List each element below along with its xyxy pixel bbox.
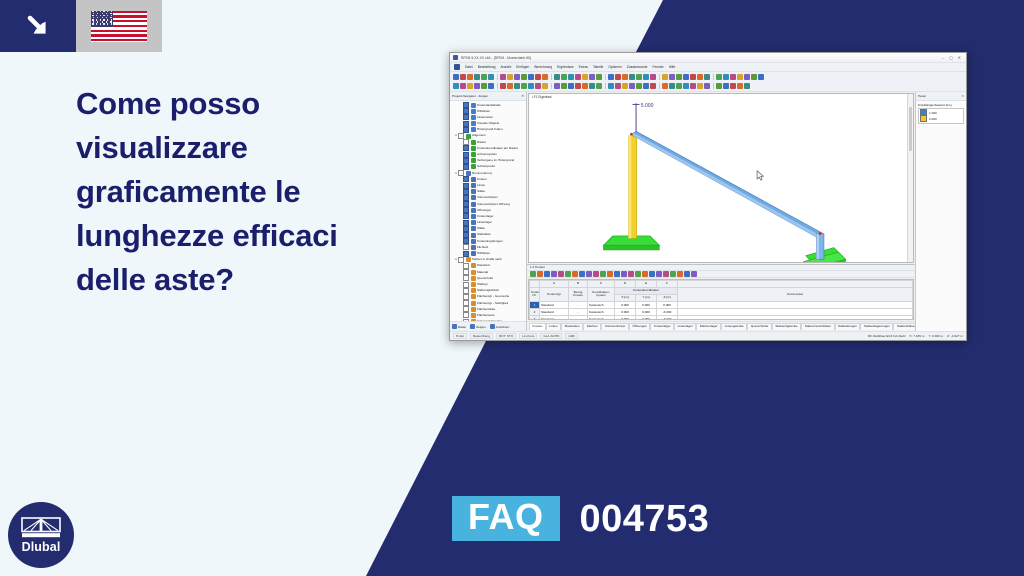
table-tab[interactable]: Stabendgelenke [772,323,801,329]
hinge-icon[interactable] [683,83,689,89]
mirror-icon[interactable] [521,83,527,89]
tree-checkbox[interactable] [463,244,469,250]
table-new-icon[interactable] [530,271,536,277]
section-icon[interactable] [643,83,649,89]
minimize-button[interactable]: – [942,56,944,60]
check-icon[interactable] [723,74,729,80]
load-icon[interactable] [697,74,703,80]
legend-box: 1.000 2.000 [918,108,964,124]
tree-checkbox[interactable] [463,176,469,182]
menu-item[interactable]: Ansicht [500,65,511,69]
mass-icon[interactable] [636,83,642,89]
print-icon[interactable] [474,74,480,80]
toolbar-separator [605,74,606,80]
table-tab[interactable]: Flächenlager [696,323,721,329]
cell-node-number[interactable]: 3 [530,315,540,320]
tree-checkbox[interactable] [463,269,469,275]
table-tabs[interactable]: KnotenLinienMaterialienFlächenVolumenkör… [527,321,915,331]
navigator-item-label: Volumenkörper [477,196,498,199]
application-body: Projekt-Navigator - Zeigen ✕ Knotenlastt… [450,92,966,331]
area-icon[interactable] [622,83,628,89]
table-tab[interactable]: Knoten [529,323,546,329]
center-column: LF1 Eigenlast 5.000 [527,92,915,331]
menu-item[interactable]: Zusatzmodule [627,65,648,69]
tree-checkbox[interactable] [463,189,469,195]
table-open-icon[interactable] [537,271,543,277]
cell-x[interactable]: 0.000 [615,308,636,315]
deform-icon[interactable] [723,83,729,89]
tree-checkbox[interactable] [463,288,469,294]
eccentricity-icon[interactable] [690,83,696,89]
table-save-icon[interactable] [544,271,550,277]
results-icon[interactable] [622,74,628,80]
tree-checkbox[interactable] [463,238,469,244]
table-icon[interactable] [629,74,635,80]
svg-text:5.000: 5.000 [641,103,654,109]
first-row-icon[interactable] [579,271,585,277]
menu-item[interactable]: Optionen [608,65,621,69]
zoom-window-icon[interactable] [554,74,560,80]
table-tab[interactable]: Linien [546,323,561,329]
maximize-button[interactable]: ◻ [949,56,952,60]
menu-item[interactable]: Ergebnisse [557,65,574,69]
report-icon[interactable] [744,83,750,89]
table-row[interactable]: 2Standard-Kartesisch0.0000.000-6.000 [530,308,913,315]
settings-icon[interactable] [643,74,649,80]
node-marker [819,232,821,234]
ortho-icon[interactable] [467,83,473,89]
layer-icon[interactable] [737,74,743,80]
project-navigator[interactable]: Projekt-Navigator - Zeigen ✕ Knotenlastt… [450,92,527,331]
node-icon[interactable] [650,74,656,80]
table-row[interactable]: 3Standard-Kartesisch7.0000.000-3.000 [530,315,913,320]
menu-item[interactable]: Bearbeitung [478,65,496,69]
info-icon[interactable] [684,271,690,277]
column-header: Y [m] [636,294,657,301]
volume-icon[interactable] [629,83,635,89]
tree-checkbox[interactable] [458,170,464,176]
panel-title: Panel [918,94,926,98]
material-icon[interactable] [650,83,656,89]
table-tab[interactable]: Knotenlager [650,323,674,329]
support-icon[interactable] [690,74,696,80]
replace-icon[interactable] [614,271,620,277]
navigator-item-label: Flächentyp - Geometrie [477,295,509,298]
tree-checkbox[interactable] [463,102,469,108]
column-letter: B [569,280,588,287]
navigator-tab-label: Ansichten [496,325,510,329]
release-icon[interactable] [676,83,682,89]
tree-checkbox[interactable] [463,164,469,170]
table-paste-icon[interactable] [572,271,578,277]
toolbar-row[interactable] [453,82,963,90]
tree-checkbox[interactable] [463,275,469,281]
taper-icon[interactable] [697,83,703,89]
cell-y[interactable]: 0.000 [636,308,657,315]
navigator-header: Projekt-Navigator - Zeigen ✕ [450,92,526,101]
cell-y[interactable]: 0.000 [636,315,657,320]
navigator-item-label: Allgemein [472,134,486,137]
cell-coordinate-system[interactable]: Kartesisch [588,301,615,308]
help-icon[interactable] [677,271,683,277]
table-tab[interactable]: Stabnichtlinearitäten [893,323,915,329]
navigator-item-label: Knotenkoordinaten am Raster [477,147,518,150]
tree-checkbox[interactable] [463,152,469,158]
navigator-item-label: Volumenkörper-Öffnung [477,203,510,206]
explode-icon[interactable] [596,83,602,89]
column-letter: E [636,280,657,287]
menu-bar[interactable]: Datei Bearbeitung Ansicht Einfügen Berec… [450,63,966,72]
plane-icon[interactable] [507,83,513,89]
print-preview-icon[interactable] [481,74,487,80]
cell-reference-node[interactable]: - [569,315,588,320]
cell-reference-node[interactable]: - [569,301,588,308]
navigator-tab-label: Daten [458,325,466,329]
table-tab[interactable]: Materialien [561,323,583,329]
toolbar-separator [713,83,714,89]
sloped-beam-member[interactable] [631,131,823,238]
delete-row-icon[interactable] [642,271,648,277]
status-coordinates: RF-Stahlbau EC3 CA-Stahl X: 7.186 m Y: 0… [868,334,963,338]
toolbar[interactable] [450,72,966,92]
dimension-annotation: 5.000 [633,103,654,136]
left-column-member[interactable] [628,136,636,238]
tree-item-icon [471,313,476,318]
close-icon[interactable] [691,271,697,277]
navigator-item-label: Linienlager [477,221,492,224]
cell-node-number[interactable]: 2 [530,308,540,315]
legend-swatch [920,115,927,122]
navigator-footer-tabs[interactable]: Daten Zeigen Ansichten [450,321,526,331]
tree-checkbox[interactable] [463,263,469,269]
combo-icon[interactable] [704,74,710,80]
column-header: Kommentar [678,287,913,301]
toolbar-row[interactable] [453,73,963,81]
tree-item-icon [471,152,476,157]
save-icon[interactable] [467,74,473,80]
status-segment: Lin-Kreis [519,333,537,339]
cell-y[interactable]: 0.000 [636,301,657,308]
tree-checkbox[interactable] [463,114,469,120]
tree-checkbox[interactable] [463,108,469,114]
panel-close-icon[interactable]: ✕ [961,94,964,98]
column-letter: F [657,280,678,287]
show-icon [470,324,475,329]
tree-checkbox[interactable] [463,121,469,127]
nonlinearity-icon[interactable] [704,83,710,89]
table-tab[interactable]: Öffnungen [629,323,650,329]
status-segment: Punkt [453,333,467,339]
menu-item[interactable]: Hilfe [669,65,676,69]
cell-z[interactable]: -6.000 [657,308,678,315]
wireframe-icon[interactable] [582,74,588,80]
column-letter: C [588,280,615,287]
divide-icon[interactable] [568,83,574,89]
tree-item-icon [471,121,476,126]
cell-comment[interactable] [678,308,913,315]
tree-item-icon [471,288,476,293]
navigator-tab-ansichten[interactable]: Ansichten [490,324,510,329]
export-icon[interactable] [656,271,662,277]
table-tab[interactable]: Stabexzentrizitäten [801,323,834,329]
navigator-item-label: Material [477,271,488,274]
tree-checkbox[interactable] [463,312,469,318]
ucs-icon[interactable] [500,83,506,89]
toolbar-separator [659,83,660,89]
cell-comment[interactable] [678,301,913,308]
column-header: X [m] [615,294,636,301]
tree-checkbox[interactable] [463,139,469,145]
stiffness-icon[interactable] [669,83,675,89]
insert-row-icon[interactable] [635,271,641,277]
tree-checkbox[interactable] [463,207,469,213]
close-button[interactable]: ✕ [958,56,961,60]
navigator-tab-daten[interactable]: Daten [452,324,466,329]
paste-icon[interactable] [514,74,520,80]
surface-icon[interactable] [676,74,682,80]
angle-icon[interactable] [615,83,621,89]
column-header: Koordinaten- system [588,287,615,301]
menu-item[interactable]: Extras [579,65,588,69]
table-toolbar[interactable] [527,271,915,278]
table-tab[interactable]: Linienlager [674,323,696,329]
solid-icon[interactable] [589,74,595,80]
pdf-icon[interactable] [488,74,494,80]
cell-coordinate-system[interactable]: Kartesisch [588,308,615,315]
tree-checkbox[interactable] [463,213,469,219]
cell-node-number[interactable]: 1 [530,301,540,308]
truss-frame-icon [21,517,61,539]
table-area: 1.1 Knoten A B C D [527,264,915,331]
coord-icon[interactable] [488,83,494,89]
line-icon[interactable] [662,74,668,80]
navigator-item-label: Stabtyp [477,283,488,286]
render-icon[interactable] [575,74,581,80]
column-letter: D [615,280,636,287]
zoom-out-icon[interactable] [542,74,548,80]
tree-checkbox[interactable] [458,257,464,263]
window-titlebar[interactable]: RFEM 5.XX.XX x64 - [RFEM - Musterdatei.r… [450,53,966,63]
print2-icon[interactable] [636,74,642,80]
table-row[interactable]: 1Standard-Kartesisch0.0000.0000.000 [530,301,913,308]
viewport-scrollbar[interactable] [907,94,913,262]
cut-icon[interactable] [500,74,506,80]
table-tab[interactable]: Liniengelenke [721,323,747,329]
calc-icon[interactable] [615,74,621,80]
solid2-icon[interactable] [683,74,689,80]
find-icon[interactable] [607,271,613,277]
snap-icon[interactable] [453,83,459,89]
tree-item-icon [471,226,476,231]
tree-checkbox[interactable] [463,300,469,306]
tree-checkbox[interactable] [463,183,469,189]
info-icon[interactable] [596,74,602,80]
open-icon[interactable] [460,74,466,80]
cell-z[interactable]: 0.000 [657,301,678,308]
check-icon[interactable] [670,271,676,277]
move-icon[interactable] [535,83,541,89]
array-icon[interactable] [554,83,560,89]
dim-icon[interactable] [481,83,487,89]
structural-model-graphic[interactable]: 5.000 [529,94,913,263]
tree-item-icon [471,177,476,182]
thickness-icon[interactable] [662,83,668,89]
navigator-item-label: Standard [477,264,490,267]
calc-icon[interactable] [663,271,669,277]
cell-node-type[interactable]: Standard [540,315,569,320]
tree-item-icon [471,189,476,194]
status-segment: GLA-SCHN [540,333,562,339]
tree-checkbox[interactable] [463,201,469,207]
column-letter: A [540,280,569,287]
navigator-item-label: Verborgene im Hintergrund [477,159,514,162]
osnap-icon[interactable] [474,83,480,89]
model-viewport[interactable]: LF1 Eigenlast 5.000 [528,93,914,263]
tree-item-icon [471,245,476,250]
tree-item-icon [471,251,476,256]
results-panel[interactable]: Panel ✕ Knicklängenbeiwert kcr,y 1.000 2… [915,92,966,331]
tree-item-icon [471,103,476,108]
prev-row-icon[interactable] [586,271,592,277]
measure-icon[interactable] [608,83,614,89]
scale-icon[interactable] [542,83,548,89]
undo-icon[interactable] [521,74,527,80]
extrude-icon[interactable] [561,83,567,89]
axis-icon[interactable] [514,83,520,89]
cell-node-type[interactable]: Standard [540,308,569,315]
toolbar-separator [551,83,552,89]
zoom-all-icon[interactable] [561,74,567,80]
cell-x[interactable]: 0.000 [615,301,636,308]
tree-checkbox[interactable] [458,133,464,139]
color-icon[interactable] [730,74,736,80]
deselect-icon[interactable] [758,74,764,80]
tree-checkbox[interactable] [463,195,469,201]
tree-checkbox[interactable] [463,306,469,312]
filter-icon[interactable] [744,74,750,80]
panel-close-icon[interactable]: ✕ [521,94,524,98]
tree-checkbox[interactable] [463,127,469,133]
cell-coordinate-system[interactable]: Kartesisch [588,315,615,320]
tree-checkbox[interactable] [463,232,469,238]
toolbar-separator [497,74,498,80]
menu-item[interactable]: Tabelle [593,65,603,69]
navigator-item-label: Farben in Grafik nach [472,258,502,261]
table-tab[interactable]: Stabteilungen [835,323,861,329]
scrollbar-thumb[interactable] [909,107,912,151]
tree-item-icon [466,171,471,176]
window-controls[interactable]: – ◻ ✕ [942,56,963,60]
menu-grid-icon[interactable] [454,64,460,70]
data-icon [452,324,457,329]
tree-checkbox[interactable] [463,158,469,164]
menu-item[interactable]: Fenster [653,65,664,69]
navigator-item-label: Visuelle Objekte [477,122,499,125]
settings-icon[interactable] [649,271,655,277]
next-row-icon[interactable] [593,271,599,277]
menu-item[interactable]: Berechnung [534,65,552,69]
table-cut-icon[interactable] [558,271,564,277]
cell-node-type[interactable]: Standard [540,301,569,308]
help-icon[interactable] [608,74,614,80]
extend-icon[interactable] [582,83,588,89]
toolbar-separator [659,74,660,80]
tree-checkbox[interactable] [463,145,469,151]
cell-x[interactable]: 7.000 [615,315,636,320]
right-column-member[interactable] [816,234,824,260]
cell-comment[interactable] [678,315,913,320]
filter-icon[interactable] [628,271,634,277]
menu-item[interactable]: Datei [465,65,473,69]
copy-icon[interactable] [507,74,513,80]
menu-item[interactable]: Einfügen [516,65,529,69]
tree-item-icon [471,220,476,225]
tree-checkbox[interactable] [463,226,469,232]
navigator-item-label: Raster [477,141,486,144]
cell-reference-node[interactable]: - [569,308,588,315]
last-row-icon[interactable] [600,271,606,277]
utilization-icon[interactable] [737,83,743,89]
tree-checkbox[interactable] [463,282,469,288]
navigator-tree[interactable]: KnotenlasttabelleHilfslinienLinienraster… [450,101,526,321]
status-segment: Raster/Fang [470,333,493,339]
us-flag-icon [91,11,147,42]
join-icon[interactable] [589,83,595,89]
pan-icon[interactable] [568,74,574,80]
zoom-in-icon[interactable] [535,74,541,80]
nodes-table[interactable]: A B C D E F Knoten Nr. [529,280,913,320]
grid-icon[interactable] [460,83,466,89]
navigator-item-label: Achsensystem [477,153,497,156]
stress-icon[interactable] [730,83,736,89]
table-tab[interactable]: Querschnitte [747,323,772,329]
table-tab[interactable]: Flächen [583,323,601,329]
rotate-icon[interactable] [528,83,534,89]
rfem-application-window[interactable]: RFEM 5.XX.XX x64 - [RFEM - Musterdatei.r… [449,52,967,341]
navigator-item-label: Nummerierung [472,172,492,175]
trim-icon[interactable] [575,83,581,89]
table-tab[interactable]: Stabeinlagerungen [860,323,893,329]
status-z: Z: -4.927 m [947,334,963,338]
sort-icon[interactable] [621,271,627,277]
table-tab[interactable]: Volumenkörper [601,323,629,329]
table-grid-wrapper[interactable]: A B C D E F Knoten Nr. [528,279,914,320]
tree-checkbox[interactable] [463,251,469,257]
tree-item-icon [471,109,476,114]
table-group-row: Knoten Nr. Knotentyp Bezug Knoten Koordi… [530,287,913,294]
tree-item-icon [471,233,476,238]
select-icon[interactable] [751,74,757,80]
table-copy-icon[interactable] [565,271,571,277]
tree-checkbox[interactable] [463,294,469,300]
toolbar-separator [713,74,714,80]
buckling-icon[interactable] [716,83,722,89]
navigator-item-label: Flächentyp - Steifigkeit [477,302,508,305]
new-icon[interactable] [453,74,459,80]
navigator-item-label: Stäbe [477,227,485,230]
status-x: X: 7.186 m [909,334,924,338]
navigator-item-label: FE-Netz [477,246,488,249]
navigator-tab-zeigen[interactable]: Zeigen [470,324,485,329]
member-icon[interactable] [669,74,675,80]
module-icon[interactable] [716,74,722,80]
table-print-icon[interactable] [551,271,557,277]
tree-item-icon [471,140,476,145]
redo-icon[interactable] [528,74,534,80]
cell-z[interactable]: -3.000 [657,315,678,320]
toolbar-separator [497,83,498,89]
tree-checkbox[interactable] [463,220,469,226]
